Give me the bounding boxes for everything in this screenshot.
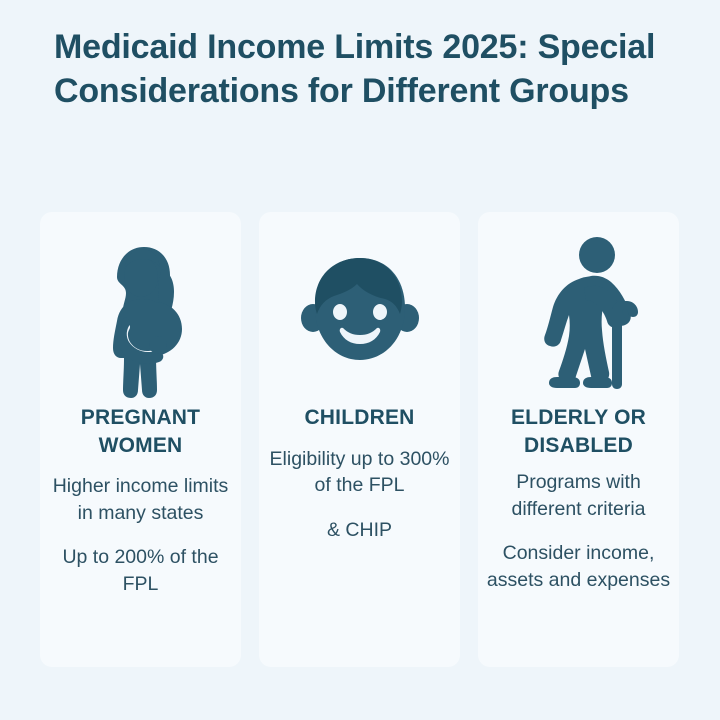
card-body-line2: & CHIP [267, 517, 453, 544]
card-elderly-or-disabled: ELDERLY OR DISABLED Programs with differ… [478, 212, 679, 667]
child-face-icon [295, 230, 425, 400]
card-body-line2: Up to 200% of the FPL [48, 544, 234, 597]
pregnant-woman-icon [81, 230, 201, 400]
page-title: Medicaid Income Limits 2025: Special Con… [54, 26, 674, 113]
card-body-line1: Eligibility up to 300% of the FPL [267, 446, 453, 499]
card-pregnant-women: PREGNANT WOMEN Higher income limits in m… [40, 212, 241, 667]
card-heading: PREGNANT WOMEN [50, 404, 231, 459]
card-body-line1: Higher income limits in many states [48, 473, 234, 526]
elderly-person-with-cane-icon [509, 230, 649, 400]
card-children: CHILDREN Eligibility up to 300% of the F… [259, 212, 460, 667]
cards-container: PREGNANT WOMEN Higher income limits in m… [40, 212, 680, 667]
card-body-line1: Programs with different criteria [486, 469, 672, 522]
infographic-page: Medicaid Income Limits 2025: Special Con… [0, 0, 720, 720]
card-body-line2: Consider income, assets and expenses [486, 540, 672, 593]
card-heading: CHILDREN [304, 404, 414, 432]
card-heading: ELDERLY OR DISABLED [488, 404, 669, 459]
